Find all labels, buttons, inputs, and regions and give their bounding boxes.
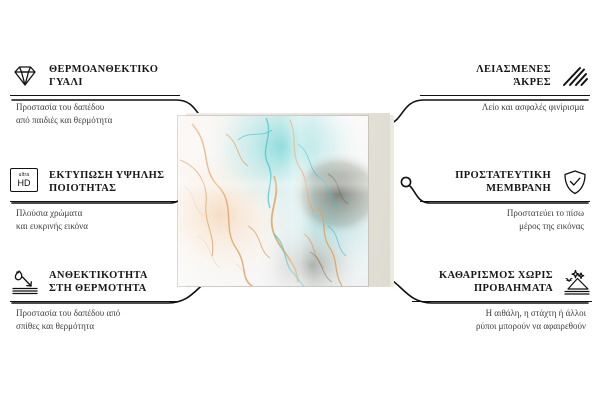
feature-description: Λείο και ασφαλές φινίρισμα — [420, 101, 590, 114]
ultra-hd-icon: ultra HD — [10, 168, 40, 196]
polished-edges-icon — [560, 62, 590, 90]
feature-header: ΠΡΟΣΤΑΤΕΥΤΙΚΗ ΜΕΜΒΡΑΝΗ — [420, 168, 590, 196]
feature-protective-membrane: ΠΡΟΣΤΑΤΕΥΤΙΚΗ ΜΕΜΒΡΑΝΗ Προστατεύει το πί… — [420, 168, 590, 232]
easy-cleaning-icon — [562, 268, 592, 296]
feature-header: ΛΕΙΑΣΜΕΝΕΣ ΆΚΡΕΣ — [420, 62, 590, 90]
feature-heat-durability: ΑΝΘΕΚΤΙΚΟΤΗΤΑ ΣΤΗ ΘΕΡΜΟΤΗΤΑ Προστασία το… — [10, 268, 180, 332]
glass-horizontal-glare — [178, 174, 368, 194]
infographic-canvas: ΘΕΡΜΟΑΝΘΕΚΤΙΚΟ ΓΥΑΛΙ Προστασία του δαπέδ… — [0, 0, 600, 400]
feature-heat-resistant-glass: ΘΕΡΜΟΑΝΘΕΚΤΙΚΟ ΓΥΑΛΙ Προστασία του δαπέδ… — [10, 62, 180, 126]
feature-title: ΑΝΘΕΚΤΙΚΟΤΗΤΑ ΣΤΗ ΘΕΡΜΟΤΗΤΑ — [49, 269, 148, 296]
feature-title: ΠΡΟΣΤΑΤΕΥΤΙΚΗ ΜΕΜΒΡΑΝΗ — [455, 169, 551, 196]
feature-easy-cleaning: ΚΑΘΑΡΙΣΜΟΣ ΧΩΡΙΣ ΠΡΟΒΛΗΜΑΤΑ Η αιθάλη, η … — [412, 268, 592, 332]
glass-panel — [178, 116, 368, 286]
heat-resistance-icon — [10, 268, 40, 296]
glass-gloss — [178, 116, 368, 286]
feature-description: Προστασία του δαπέδου από παιδιές και θε… — [10, 101, 180, 126]
product-image — [178, 112, 394, 288]
feature-title: ΕΚΤΥΠΩΣΗ ΥΨΗΛΗΣ ΠΟΙΟΤΗΤΑΣ — [49, 169, 164, 196]
diamond-icon — [10, 62, 40, 90]
ultra-hd-bottom-label: HD — [18, 179, 31, 188]
feature-header: ΑΝΘΕΚΤΙΚΟΤΗΤΑ ΣΤΗ ΘΕΡΜΟΤΗΤΑ — [10, 268, 180, 296]
feature-polished-edges: ΛΕΙΑΣΜΕΝΕΣ ΆΚΡΕΣ Λείο και ασφαλές φινίρι… — [420, 62, 590, 114]
feature-description: Η αιθάλη, η στάχτη ή άλλοι ρύποι μπορούν… — [412, 307, 592, 332]
feature-title: ΘΕΡΜΟΑΝΘΕΚΤΙΚΟ ΓΥΑΛΙ — [49, 63, 158, 90]
feature-description: Προστατεύει το πίσω μέρος της εικόνας — [420, 207, 590, 232]
shield-check-icon — [560, 168, 590, 196]
ultra-hd-top-label: ultra — [19, 173, 30, 178]
glass-vertical-glare — [288, 116, 314, 286]
feature-description: Πλούσια χρώματα και ευκρινής εικόνα — [10, 207, 178, 232]
divider — [420, 201, 590, 202]
feature-title: ΛΕΙΑΣΜΕΝΕΣ ΆΚΡΕΣ — [476, 63, 551, 90]
divider — [10, 95, 180, 96]
divider — [412, 301, 592, 302]
divider — [10, 201, 178, 202]
feature-header: ΚΑΘΑΡΙΣΜΟΣ ΧΩΡΙΣ ΠΡΟΒΛΗΜΑΤΑ — [412, 268, 592, 296]
divider — [420, 95, 590, 96]
feature-high-quality-print: ultra HD ΕΚΤΥΠΩΣΗ ΥΨΗΛΗΣ ΠΟΙΟΤΗΤΑΣ Πλούσ… — [10, 168, 178, 232]
feature-description: Προστασία του δαπέδου από σπίθες και θερ… — [10, 307, 180, 332]
feature-title: ΚΑΘΑΡΙΣΜΟΣ ΧΩΡΙΣ ΠΡΟΒΛΗΜΑΤΑ — [439, 269, 553, 296]
feature-header: ultra HD ΕΚΤΥΠΩΣΗ ΥΨΗΛΗΣ ΠΟΙΟΤΗΤΑΣ — [10, 168, 178, 196]
connector-dot — [401, 177, 410, 186]
divider — [10, 301, 180, 302]
feature-header: ΘΕΡΜΟΑΝΘΕΚΤΙΚΟ ΓΥΑΛΙ — [10, 62, 180, 90]
